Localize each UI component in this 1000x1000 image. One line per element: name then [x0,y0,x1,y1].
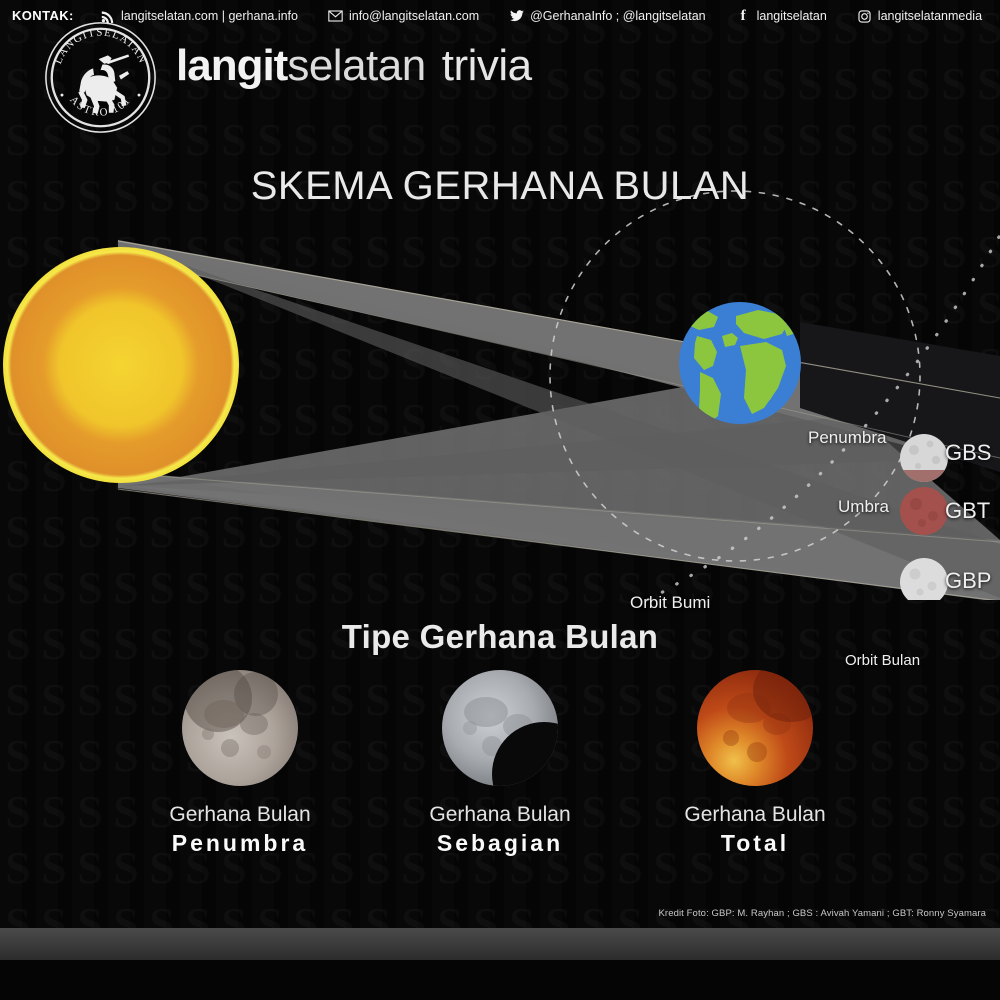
contact-item-facebook[interactable]: flangitselatan [721,0,842,32]
rss-icon [100,9,115,24]
infographic-page: SSSSSSSSSSSSSSSSSSSSSSSSSSSSSSSSSSSSSSSS… [0,0,1000,1000]
contact-bar [0,928,1000,960]
earth [679,302,802,424]
type-item-total: Gerhana Bulan Total [625,668,885,858]
type-item-penumbra: Gerhana Bulan Penumbra [110,668,370,858]
label-gbp: GBP [945,568,991,594]
contact-item-label: langitselatan [757,9,827,23]
contact-item-email[interactable]: info@langitselatan.com [313,0,494,32]
label-gbs: GBS [945,440,991,466]
contact-item-label: @GerhanaInfo ; @langitselatan [530,9,705,23]
label-penumbra: Penumbra [808,428,886,448]
type-item-sebagian: Gerhana Bulan Sebagian [370,668,630,858]
langitselatan-seal-logo: LANGITSELATAN ASTRO 101 [42,19,159,136]
brand-light: selatan [287,41,425,90]
page-title: SKEMA GERHANA BULAN [0,164,1000,209]
instagram-icon [857,9,872,24]
contact-item-instagram[interactable]: langitselatanmedia [842,0,997,32]
brand-wordmark: langitselatantrivia [176,40,532,92]
type-caption-top: Gerhana Bulan [625,802,885,828]
type-caption-bottom: Sebagian [370,828,630,858]
contact-item-label: langitselatan.com | gerhana.info [121,9,298,23]
email-icon [328,9,343,24]
moon-penumbral-photo [180,668,300,788]
contact-label: KONTAK: [12,0,74,32]
contact-item-label: info@langitselatan.com [349,9,479,23]
type-caption-top: Gerhana Bulan [370,802,630,828]
facebook-icon: f [736,9,751,24]
moon-gbt [900,487,948,535]
brand-bold: langit [176,41,287,90]
moon-partial-photo [440,668,560,788]
types-title: Tipe Gerhana Bulan [0,618,1000,656]
contact-items: langitselatan.com | gerhana.infoinfo@lan… [85,0,1000,32]
bottom-filler [0,960,1000,1000]
eclipse-scheme-diagram: SKEMA GERHANA BULAN Penumbra Umbra Orbit… [0,140,1000,600]
label-gbt: GBT [945,498,990,524]
photo-credit: Kredit Foto: GBP: M. Rayhan ; GBS : Aviv… [659,908,987,919]
contact-item-twitter[interactable]: @GerhanaInfo ; @langitselatan [494,0,720,32]
type-caption-bottom: Penumbra [110,828,370,858]
moon-total-photo [695,668,815,788]
diagram-canvas [0,140,1000,600]
contact-item-rss[interactable]: langitselatan.com | gerhana.info [85,0,313,32]
type-caption-bottom: Total [625,828,885,858]
eclipse-types-section: Tipe Gerhana Bulan [0,600,1000,900]
brand-suffix: trivia [442,41,532,90]
type-caption-top: Gerhana Bulan [110,802,370,828]
contact-item-label: langitselatanmedia [878,9,982,23]
twitter-icon [509,9,524,24]
sun [3,247,239,483]
label-umbra: Umbra [838,497,889,517]
